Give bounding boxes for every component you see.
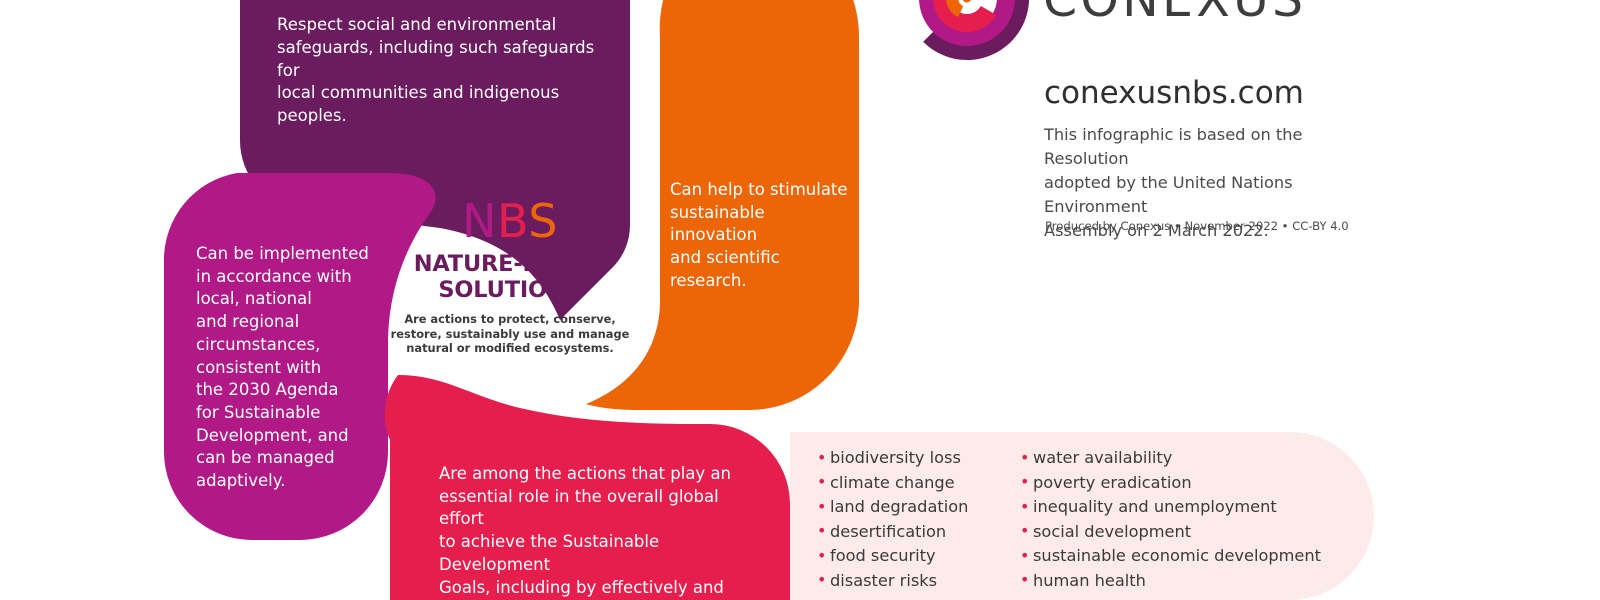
list-item: food security: [817, 544, 968, 569]
conexus-wordmark: CONEXUS: [1043, 0, 1306, 26]
nbs-center-block: NBS NATURE-BASED SOLUTIONS Are actions t…: [390, 196, 630, 356]
nbs-letter-s: S: [528, 194, 558, 248]
list-item: climate change: [817, 471, 968, 496]
list-item: land degradation: [817, 495, 968, 520]
nbs-letter-b: B: [497, 194, 528, 248]
nbs-acronym: NBS: [390, 196, 630, 246]
list-item: social development: [1020, 520, 1321, 545]
list-item: human health: [1020, 569, 1321, 594]
nbs-definition: Are actions to protect, conserve, restor…: [390, 312, 630, 356]
list-item: water availability: [1020, 446, 1321, 471]
challenges-list-right: water availabilitypoverty eradicationine…: [1020, 446, 1321, 593]
credit-line: Produced by Conexus • November 2022 • CC…: [1045, 218, 1349, 234]
list-item: inequality and unemployment: [1020, 495, 1321, 520]
list-item: sustainable economic development: [1020, 544, 1321, 569]
list-item: desertification: [817, 520, 968, 545]
orange-bubble-text: Can help to stimulate sustainable innova…: [670, 179, 855, 293]
list-item: disaster risks: [817, 569, 968, 594]
infographic-canvas: Respect social and environmental safegua…: [0, 0, 1600, 600]
list-item: biodiversity loss: [817, 446, 968, 471]
nbs-letter-n: N: [462, 194, 497, 248]
challenges-list-left: biodiversity lossclimate changeland degr…: [817, 446, 968, 593]
list-item: poverty eradication: [1020, 471, 1321, 496]
magenta-bubble-text: Can be implemented in accordance with lo…: [196, 243, 371, 493]
crimson-bubble-text: Are among the actions that play an essen…: [439, 463, 754, 600]
website-url[interactable]: conexusnbs.com: [1044, 74, 1304, 112]
purple-bubble-text: Respect social and environmental safegua…: [277, 14, 622, 128]
conexus-logo-mark: [908, 0, 1034, 65]
nbs-full-title: NATURE-BASED SOLUTIONS: [390, 251, 630, 303]
